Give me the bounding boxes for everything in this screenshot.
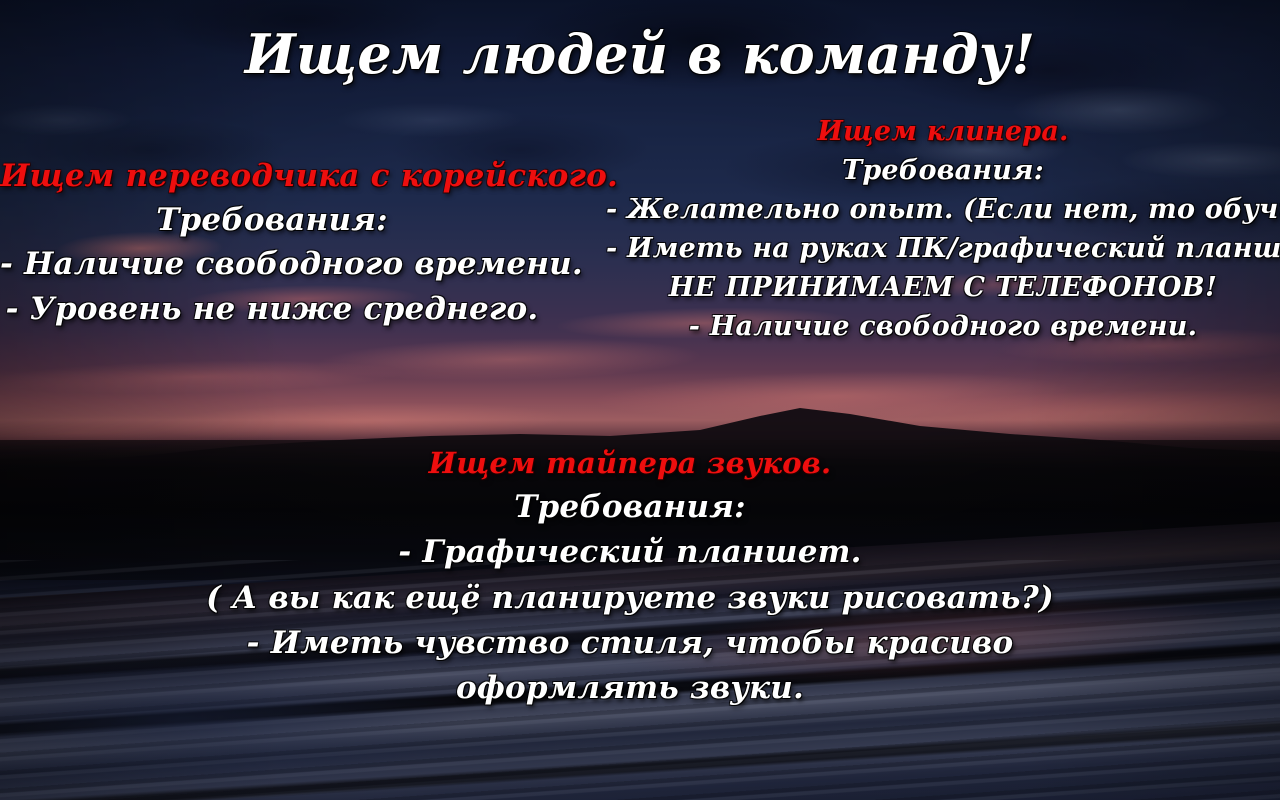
poster-canvas: Ищем людей в команду! Ищем переводчика с… bbox=[0, 0, 1280, 800]
vacancy-title-sound-typer: Ищем тайпера звуков. bbox=[120, 448, 1140, 478]
requirement-item: - Наличие свободного времени. bbox=[606, 313, 1280, 341]
requirement-item-continued: оформлять звуки. bbox=[120, 672, 1140, 704]
vacancy-block-translator: Ищем переводчика с корейского. Требовани… bbox=[0, 160, 544, 325]
requirement-warning-no-phones: НЕ ПРИНИМАЕМ С ТЕЛЕФОНОВ! bbox=[606, 274, 1280, 302]
requirement-note: ( А вы как ещё планируете звуки рисовать… bbox=[120, 582, 1140, 614]
requirement-item: - Наличие свободного времени. bbox=[0, 248, 544, 280]
text-overlay: Ищем людей в команду! Ищем переводчика с… bbox=[0, 0, 1280, 800]
poster-headline: Ищем людей в команду! bbox=[0, 26, 1280, 82]
requirements-label-translator: Требования: bbox=[0, 204, 544, 236]
requirements-label-cleaner: Требования: bbox=[606, 157, 1280, 185]
requirement-item: - Графический планшет. bbox=[120, 536, 1140, 568]
vacancy-block-cleaner: Ищем клинера. Требования: - Желательно о… bbox=[606, 118, 1280, 341]
requirement-item: - Иметь чувство стиля, чтобы красиво bbox=[120, 627, 1140, 659]
requirement-item: - Иметь на руках ПК/графический планшет. bbox=[606, 235, 1280, 263]
requirements-label-sound-typer: Требования: bbox=[120, 491, 1140, 523]
requirement-item: - Уровень не ниже среднего. bbox=[0, 293, 544, 325]
vacancy-title-cleaner: Ищем клинера. bbox=[606, 118, 1280, 146]
vacancy-block-sound-typer: Ищем тайпера звуков. Требования: - Графи… bbox=[120, 448, 1140, 704]
requirement-item: - Желательно опыт. (Если нет, то обучим) bbox=[606, 196, 1280, 224]
vacancy-title-translator: Ищем переводчика с корейского. bbox=[0, 160, 544, 192]
